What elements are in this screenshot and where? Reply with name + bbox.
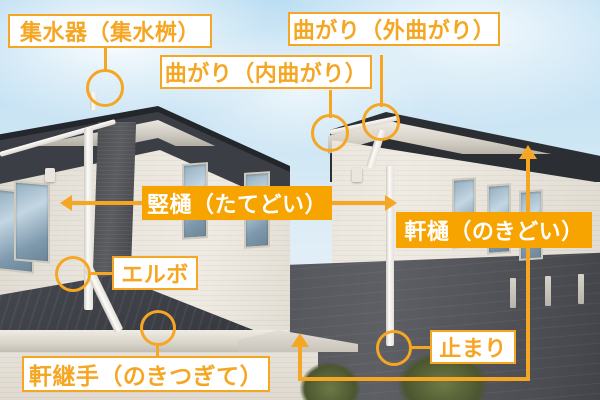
arrowhead-up-nokidoi-left <box>291 333 309 347</box>
label-nokidoi[interactable]: 軒樋（のきどい） <box>396 212 592 248</box>
arrowhead-up-nokidoi-right <box>519 145 537 159</box>
circle-tomari <box>376 330 412 366</box>
leader-line-shusuiki <box>104 48 107 72</box>
label-nokitsugite[interactable]: 軒継手（のきつぎて） <box>22 356 270 392</box>
label-shusuiki[interactable]: 集水器（集水桝） <box>8 14 212 48</box>
circle-erubo <box>55 256 91 292</box>
arrow-shaft-nokidoi-right <box>526 158 530 380</box>
arrow-shaft-tatedoi-left <box>68 201 148 205</box>
circle-nokitsugite <box>140 310 176 346</box>
arrow-shaft-nokidoi-left <box>298 345 302 381</box>
label-erubo[interactable]: エルボ <box>112 256 198 290</box>
label-tatedoi[interactable]: 竪樋（たてどい） <box>142 186 332 220</box>
arrowhead-right-tatedoi <box>385 195 397 211</box>
label-tomari[interactable]: 止まり <box>430 330 516 364</box>
leader-line-magari-uchi <box>329 90 332 118</box>
arrow-baseline-nokidoi <box>298 377 530 381</box>
annotation-overlay: 集水器（集水桝） 曲がり（内曲がり） 曲がり（外曲がり） 竪樋（たてどい） 軒樋… <box>0 0 600 400</box>
circle-shusuiki <box>86 69 124 107</box>
circle-magari-uchi <box>311 114 349 152</box>
arrowhead-left-tatedoi <box>60 195 72 211</box>
label-magari-uchi[interactable]: 曲がり（内曲がり） <box>160 55 372 89</box>
annotated-house-photo: 集水器（集水桝） 曲がり（内曲がり） 曲がり（外曲がり） 竪樋（たてどい） 軒樋… <box>0 0 600 400</box>
leader-line-magari-soto <box>380 55 383 107</box>
label-magari-soto[interactable]: 曲がり（外曲がり） <box>288 12 500 46</box>
circle-magari-soto <box>362 103 400 141</box>
arrow-shaft-tatedoi-right <box>330 201 388 205</box>
